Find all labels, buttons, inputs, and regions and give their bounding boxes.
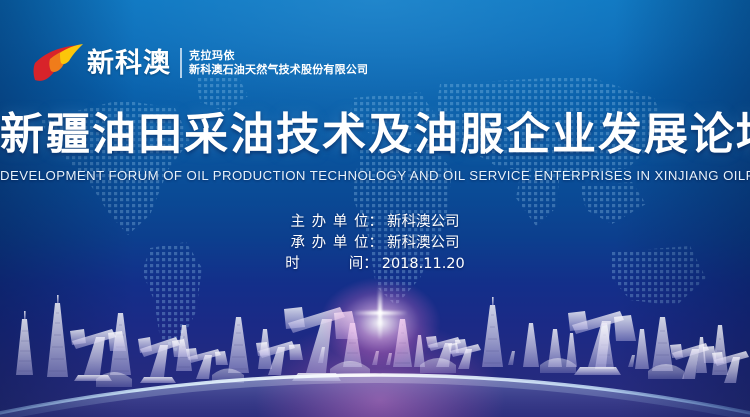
logo-subtitle-line1: 克拉玛依	[189, 49, 368, 63]
meta-label: 主办单位	[291, 212, 369, 233]
meta-colon: ：	[369, 212, 384, 233]
meta-label: 承办单位	[291, 233, 369, 254]
conference-poster: 新科澳 克拉玛依 新科澳石油天然气技术股份有限公司 新疆油田采油技术及油服企业发…	[0, 0, 750, 417]
meta-value: 新科澳公司	[387, 233, 460, 254]
logo-subtitle-line2: 新科澳石油天然气技术股份有限公司	[189, 63, 368, 77]
poster-title-cn: 新疆油田采油技术及油服企业发展论坛	[0, 112, 750, 159]
oilfield-silhouette-skyline	[0, 267, 750, 417]
meta-row-host: 承办单位 ： 新科澳公司	[291, 233, 460, 254]
xinkeao-swoosh-logo-icon	[33, 42, 85, 84]
company-logo: 新科澳 克拉玛依 新科澳石油天然气技术股份有限公司	[33, 41, 368, 85]
poster-title-en: DEVELOPMENT FORUM OF OIL PRODUCTION TECH…	[0, 168, 750, 183]
logo-brand-cn: 新科澳	[87, 50, 171, 77]
event-meta-block: 主办单位 ： 新科澳公司 承办单位 ： 新科澳公司 时间 ： 2018.11.2…	[0, 212, 750, 275]
meta-value: 新科澳公司	[387, 212, 460, 233]
meta-colon: ：	[369, 233, 384, 254]
meta-row-organizer: 主办单位 ： 新科澳公司	[291, 212, 460, 233]
logo-subtitle: 克拉玛依 新科澳石油天然气技术股份有限公司	[189, 49, 368, 77]
logo-divider	[180, 48, 182, 78]
